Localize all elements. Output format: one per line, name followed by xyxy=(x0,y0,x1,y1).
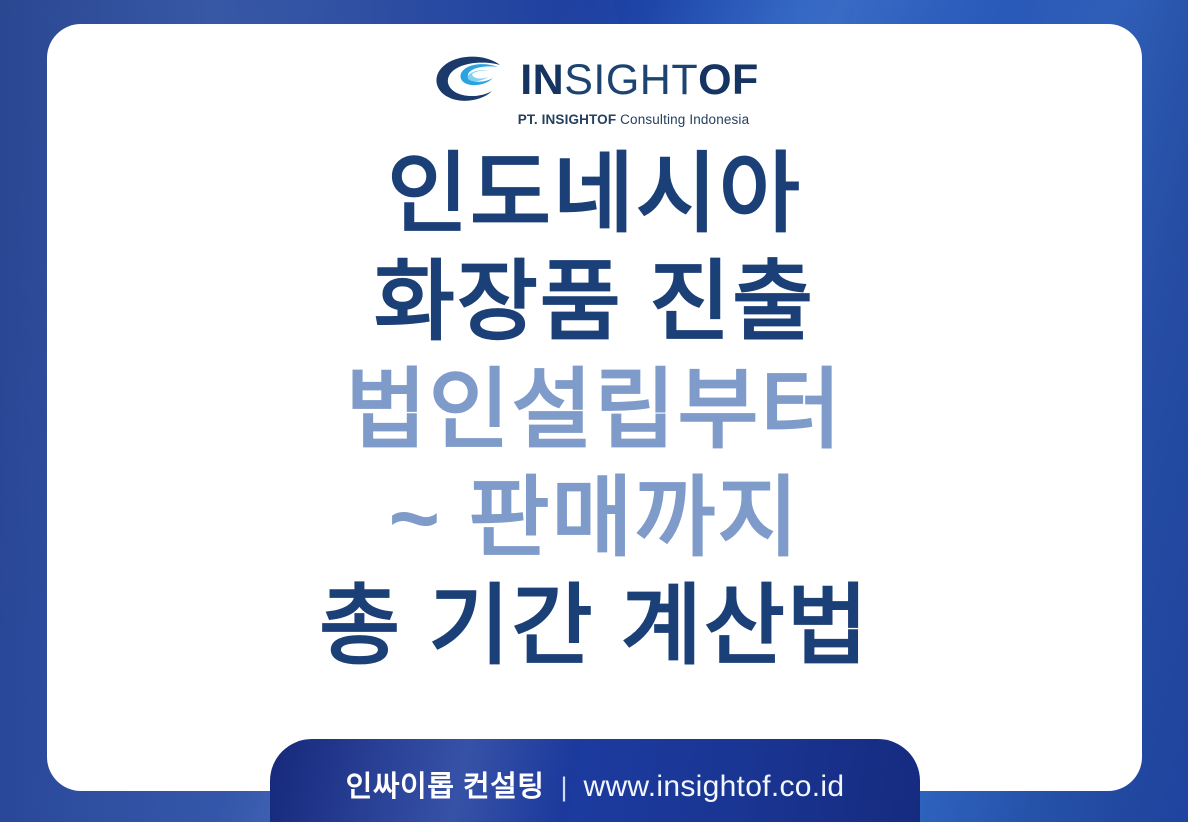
headline-line-2: 화장품 진출 xyxy=(47,248,1142,356)
footer-separator: | xyxy=(560,772,567,803)
insightof-eye-swoosh-icon xyxy=(430,52,506,108)
content-card: INSIGHTOF PT. INSIGHTOF Consulting Indon… xyxy=(47,24,1142,791)
footer-website-url[interactable]: www.insightof.co.id xyxy=(584,770,845,804)
tagline-company-name: PT. INSIGHTOF xyxy=(518,112,616,127)
headline-line-1: 인도네시아 xyxy=(47,140,1142,248)
footer-bar: 인싸이롭 컨설팅 | www.insightof.co.id xyxy=(270,739,920,822)
headline-line-5: 총 기간 계산법 xyxy=(47,572,1142,680)
logo-word-of: OF xyxy=(698,56,759,104)
tagline-descriptor: Consulting Indonesia xyxy=(620,112,749,127)
footer-brand-name: 인싸이롭 컨설팅 xyxy=(346,763,545,805)
logo-word-in: IN xyxy=(520,56,564,104)
logo-wordmark: INSIGHTOF xyxy=(520,59,759,102)
headline-line-4: ~ 판매까지 xyxy=(47,464,1142,572)
logo-word-sight: SIGHT xyxy=(564,56,698,104)
poster-background: INSIGHTOF PT. INSIGHTOF Consulting Indon… xyxy=(0,0,1188,822)
headline-line-3: 법인설립부터 xyxy=(47,356,1142,464)
logo-row: INSIGHTOF xyxy=(430,52,759,108)
logo-tagline: PT. INSIGHTOF Consulting Indonesia xyxy=(440,112,749,127)
footer-content: 인싸이롭 컨설팅 | www.insightof.co.id xyxy=(346,763,845,805)
brand-logo: INSIGHTOF PT. INSIGHTOF Consulting Indon… xyxy=(47,52,1142,127)
headline-block: 인도네시아 화장품 진출 법인설립부터 ~ 판매까지 총 기간 계산법 xyxy=(47,140,1142,680)
